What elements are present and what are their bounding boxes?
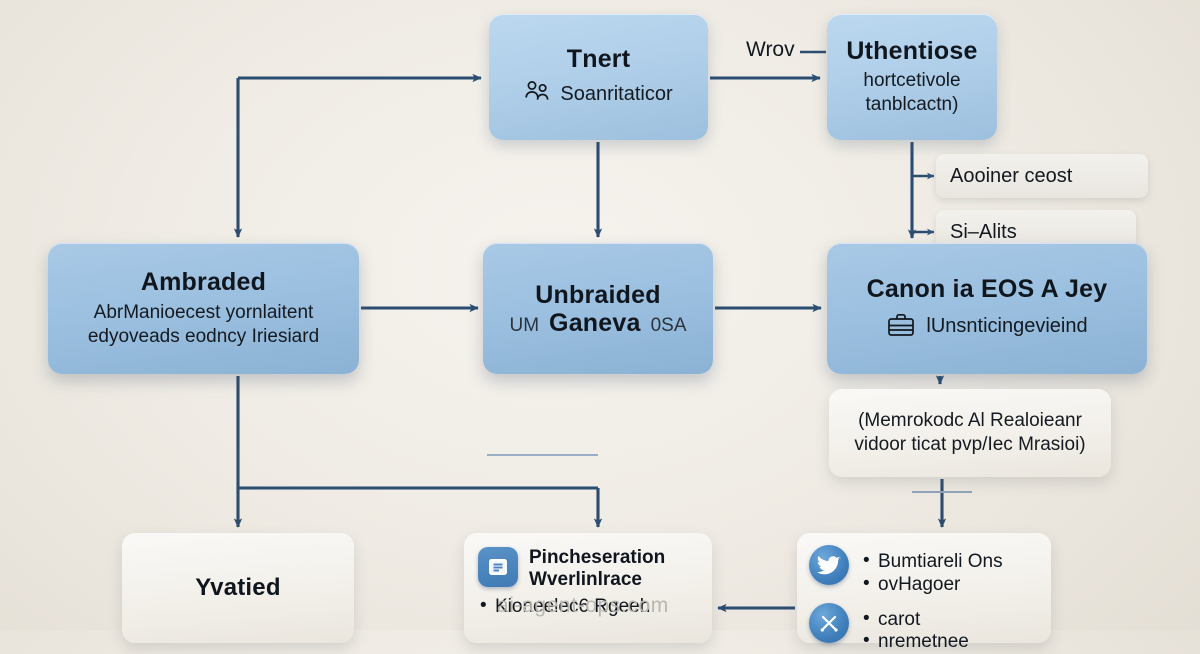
node-canon-subtitle: lUnsnticingevieind <box>926 314 1087 339</box>
edge-label-wrov: Wrov <box>746 38 795 62</box>
node-unbraided-left-small: UM <box>509 315 539 337</box>
diagram-canvas: Tnert Soanritaticor Uthentiose hortcetiv… <box>0 0 1200 630</box>
tools-icon <box>809 603 849 643</box>
node-memo-line1: (Memrokodc Al Realoieanr <box>858 409 1082 433</box>
node-intent-subtitle: Soanritaticor <box>560 82 672 107</box>
node-intent[interactable]: Tnert Soanritaticor <box>489 14 708 140</box>
node-unbraided-right-small: 0SA <box>651 315 687 337</box>
list-item: ovHagoer <box>861 574 1003 597</box>
node-authenticate[interactable]: Uthentiose hortcetivole tanblcactn) <box>827 14 997 140</box>
document-card-icon <box>478 547 518 587</box>
node-canon-title: Canon ia EOS A Jey <box>867 275 1108 303</box>
chip-access-label: Aooiner ceost <box>950 165 1072 188</box>
node-orchestration-heading-line2: Wverlinlrace <box>529 569 642 590</box>
node-vuatied-title: Yvatied <box>195 575 280 602</box>
list-item: Kioneelec6 Rgeeh <box>478 596 650 619</box>
chip-access[interactable]: Aooiner ceost <box>936 154 1148 198</box>
node-memo[interactable]: (Memrokodc Al Realoieanr vidoor ticat pv… <box>829 389 1111 477</box>
node-orchestration-bullets: Kioneelec6 Rgeeh <box>478 596 650 619</box>
node-bottom-right-bullets-1: Bumtiareli Ons ovHagoer <box>861 551 1003 597</box>
node-unbraided-title: Unbraided <box>535 281 660 309</box>
node-authenticate-title: Uthentiose <box>846 37 977 65</box>
node-unbraided-title2: Ganeva <box>549 309 641 337</box>
bird-icon <box>809 545 849 585</box>
node-unbraided[interactable]: Unbraided UM Ganeva 0SA <box>483 243 713 374</box>
node-orchestration[interactable]: Pincheseration Wverlinlrace Kioneelec6 R… <box>464 533 712 643</box>
node-authenticate-line1: hortcetivole <box>863 69 960 93</box>
list-item: Bumtiareli Ons <box>861 551 1003 574</box>
node-orchestration-heading-line1: Pincheseration <box>529 547 665 568</box>
node-authenticate-line2: tanblcactn) <box>866 93 959 117</box>
node-bottom-right-bullets-2: carot nremetnee <box>861 609 969 654</box>
node-ambraded[interactable]: Ambraded AbrManioecest yornlaitent edyov… <box>48 243 359 374</box>
node-ambraded-title: Ambraded <box>141 268 266 296</box>
people-group-icon <box>524 79 551 109</box>
briefcase-icon <box>886 311 916 343</box>
list-item: nremetnee <box>861 631 969 654</box>
node-bottom-right[interactable]: Bumtiareli Ons ovHagoer carot nremetnee <box>797 533 1051 643</box>
node-canon[interactable]: Canon ia EOS A Jey lUnsnticingevieind <box>827 243 1147 374</box>
node-memo-line2: vidoor ticat pvp/Iec Mrasioi) <box>854 433 1085 457</box>
node-vuatied[interactable]: Yvatied <box>122 533 354 643</box>
chip-alerts-label: Si–Alits <box>950 221 1017 244</box>
node-ambraded-line2: edyoveads eodncy Iriesiard <box>88 325 319 349</box>
list-item: carot <box>861 609 969 632</box>
node-ambraded-line1: AbrManioecest yornlaitent <box>94 301 314 325</box>
node-intent-title: Tnert <box>567 45 631 73</box>
